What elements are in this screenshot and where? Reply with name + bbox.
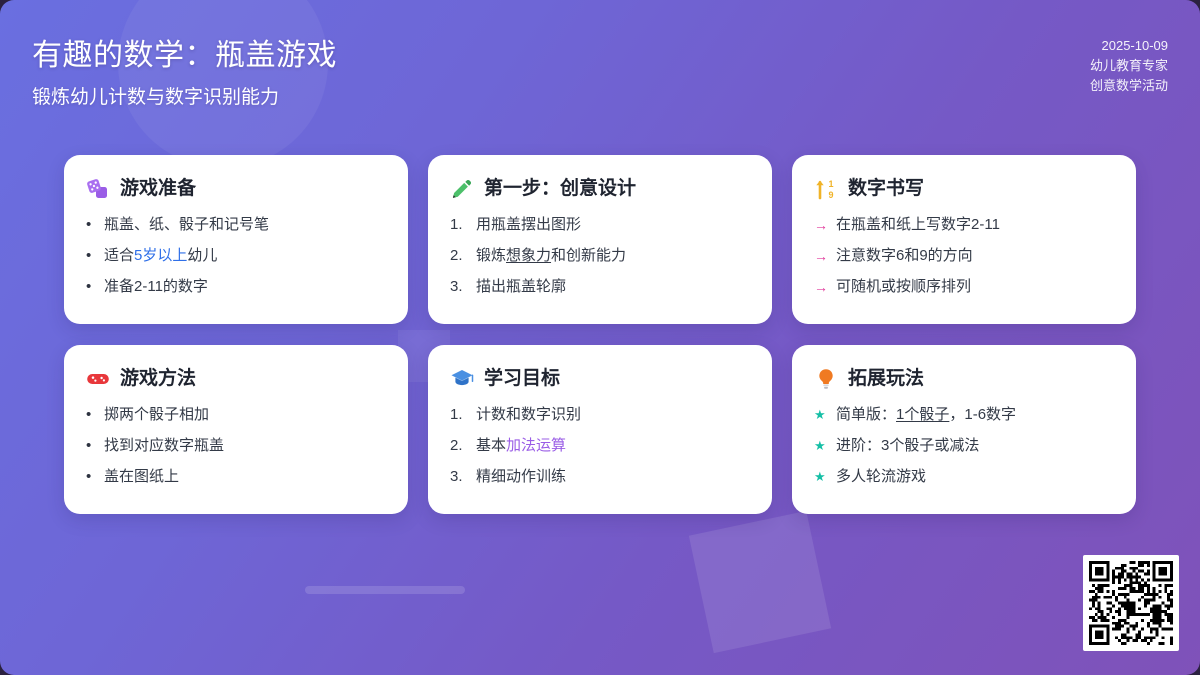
text-span: 在瓶盖和纸上写数字2-11 <box>836 216 1000 233</box>
highlight-blue: 5岁以上 <box>134 247 187 264</box>
svg-text:9: 9 <box>828 190 833 200</box>
list-marker-dot: • <box>86 436 95 456</box>
list-marker-number: 3. <box>450 467 467 487</box>
qr-code-container[interactable] <box>1083 555 1179 651</box>
list-item: 2.基本加法运算 <box>450 436 750 456</box>
list-marker-number: 2. <box>450 246 467 266</box>
meta-category: 创意数学活动 <box>1090 76 1168 96</box>
card-header: 19数字书写 <box>814 177 1114 201</box>
card-item-list: 1.计数和数字识别2.基本加法运算3.精细动作训练 <box>450 405 750 487</box>
card-title: 游戏方法 <box>120 367 196 391</box>
svg-text:1: 1 <box>828 179 833 189</box>
text-span: 用瓶盖摆出图形 <box>476 216 581 233</box>
list-marker-dot: • <box>86 405 95 425</box>
content-card: 游戏准备•瓶盖、纸、骰子和记号笔•适合5岁以上幼儿•准备2-11的数字 <box>64 155 408 324</box>
card-title: 游戏准备 <box>120 177 196 201</box>
list-item: 2.锻炼想象力和创新能力 <box>450 246 750 266</box>
list-item: •找到对应数字瓶盖 <box>86 436 386 456</box>
list-item: →注意数字6和9的方向 <box>814 246 1114 266</box>
list-marker-arrow: → <box>814 246 827 266</box>
slide-root: 有趣的数学：瓶盖游戏 锻炼幼儿计数与数字识别能力 2025-10-09 幼儿教育… <box>0 0 1200 675</box>
card-header: 游戏方法 <box>86 367 386 391</box>
list-item: •适合5岁以上幼儿 <box>86 246 386 266</box>
meta-author: 幼儿教育专家 <box>1090 56 1168 76</box>
meta-date: 2025-10-09 <box>1090 36 1168 56</box>
list-item-text: 适合5岁以上幼儿 <box>104 246 386 266</box>
highlight-underline: 想象力 <box>506 247 551 264</box>
card-header: 游戏准备 <box>86 177 386 201</box>
list-item-text: 精细动作训练 <box>476 467 750 487</box>
card-header: 第一步：创意设计 <box>450 177 750 201</box>
list-item-text: 锻炼想象力和创新能力 <box>476 246 750 266</box>
text-span: 瓶盖、纸、骰子和记号笔 <box>104 216 269 233</box>
list-item-text: 进阶：3个骰子或减法 <box>836 436 1114 456</box>
list-item: →可随机或按顺序排列 <box>814 277 1114 297</box>
page-subtitle: 锻炼幼儿计数与数字识别能力 <box>32 82 279 109</box>
list-item-text: 多人轮流游戏 <box>836 467 1114 487</box>
list-item-text: 找到对应数字瓶盖 <box>104 436 386 456</box>
text-span: 可随机或按顺序排列 <box>836 278 971 295</box>
text-span: 盖在图纸上 <box>104 468 179 485</box>
list-item: 3.精细动作训练 <box>450 467 750 487</box>
list-item-text: 简单版：1个骰子，1-6数字 <box>836 405 1114 425</box>
list-item: •盖在图纸上 <box>86 467 386 487</box>
list-item-text: 瓶盖、纸、骰子和记号笔 <box>104 215 386 235</box>
list-item-text: 基本加法运算 <box>476 436 750 456</box>
text-span: 准备2-11的数字 <box>104 278 208 295</box>
card-header: 拓展玩法 <box>814 367 1114 391</box>
list-item: •瓶盖、纸、骰子和记号笔 <box>86 215 386 235</box>
content-card: 学习目标1.计数和数字识别2.基本加法运算3.精细动作训练 <box>428 345 772 514</box>
card-item-list: ★简单版：1个骰子，1-6数字★进阶：3个骰子或减法★多人轮流游戏 <box>814 405 1114 487</box>
card-title: 数字书写 <box>848 177 924 201</box>
list-item-text: 在瓶盖和纸上写数字2-11 <box>836 215 1114 235</box>
list-marker-number: 1. <box>450 405 467 425</box>
text-span: 注意数字6和9的方向 <box>836 247 973 264</box>
list-marker-number: 2. <box>450 436 467 456</box>
list-marker-star: ★ <box>814 405 827 425</box>
text-span: 和创新能力 <box>551 247 626 264</box>
card-item-list: 1.用瓶盖摆出图形2.锻炼想象力和创新能力3.描出瓶盖轮廓 <box>450 215 750 297</box>
text-span: 锻炼 <box>476 247 506 264</box>
text-span: 简单版： <box>836 406 896 423</box>
text-span: 进阶：3个骰子或减法 <box>836 437 979 454</box>
list-item: ★进阶：3个骰子或减法 <box>814 436 1114 456</box>
card-title: 第一步：创意设计 <box>484 177 636 201</box>
card-item-list: →在瓶盖和纸上写数字2-11→注意数字6和9的方向→可随机或按顺序排列 <box>814 215 1114 297</box>
decor-rotated-square <box>689 511 831 653</box>
list-item-text: 注意数字6和9的方向 <box>836 246 1114 266</box>
graduation-cap-icon <box>450 367 474 391</box>
gamepad-icon <box>86 367 110 391</box>
list-marker-star: ★ <box>814 467 827 487</box>
text-span: 找到对应数字瓶盖 <box>104 437 224 454</box>
list-marker-star: ★ <box>814 436 827 456</box>
card-grid: 游戏准备•瓶盖、纸、骰子和记号笔•适合5岁以上幼儿•准备2-11的数字第一步：创… <box>64 155 1136 514</box>
text-span: 基本 <box>476 437 506 454</box>
card-item-list: •掷两个骰子相加•找到对应数字瓶盖•盖在图纸上 <box>86 405 386 487</box>
text-span: 幼儿 <box>187 247 217 264</box>
list-item: •掷两个骰子相加 <box>86 405 386 425</box>
content-card: 第一步：创意设计1.用瓶盖摆出图形2.锻炼想象力和创新能力3.描出瓶盖轮廓 <box>428 155 772 324</box>
list-item-text: 准备2-11的数字 <box>104 277 386 297</box>
card-title: 学习目标 <box>484 367 560 391</box>
list-marker-number: 3. <box>450 277 467 297</box>
content-card: 拓展玩法★简单版：1个骰子，1-6数字★进阶：3个骰子或减法★多人轮流游戏 <box>792 345 1136 514</box>
text-span: 适合 <box>104 247 134 264</box>
list-marker-dot: • <box>86 467 95 487</box>
list-item: 3.描出瓶盖轮廓 <box>450 277 750 297</box>
list-item-text: 计数和数字识别 <box>476 405 750 425</box>
list-item-text: 描出瓶盖轮廓 <box>476 277 750 297</box>
lightbulb-icon <box>814 367 838 391</box>
card-item-list: •瓶盖、纸、骰子和记号笔•适合5岁以上幼儿•准备2-11的数字 <box>86 215 386 297</box>
list-item-text: 盖在图纸上 <box>104 467 386 487</box>
slide-header: 有趣的数学：瓶盖游戏 锻炼幼儿计数与数字识别能力 2025-10-09 幼儿教育… <box>0 0 1200 140</box>
list-marker-dot: • <box>86 277 95 297</box>
page-title: 有趣的数学：瓶盖游戏 <box>32 30 337 74</box>
decor-bar <box>305 586 465 594</box>
list-item: ★简单版：1个骰子，1-6数字 <box>814 405 1114 425</box>
list-item-text: 掷两个骰子相加 <box>104 405 386 425</box>
highlight-purple: 加法运算 <box>506 437 566 454</box>
text-span: ，1-6数字 <box>949 406 1016 423</box>
list-marker-dot: • <box>86 215 95 235</box>
list-item: 1.用瓶盖摆出图形 <box>450 215 750 235</box>
list-marker-arrow: → <box>814 215 827 235</box>
qr-code <box>1089 561 1173 645</box>
text-span: 精细动作训练 <box>476 468 566 485</box>
text-span: 描出瓶盖轮廓 <box>476 278 566 295</box>
text-span: 多人轮流游戏 <box>836 468 926 485</box>
card-title: 拓展玩法 <box>848 367 924 391</box>
list-item: 1.计数和数字识别 <box>450 405 750 425</box>
list-item-text: 可随机或按顺序排列 <box>836 277 1114 297</box>
header-meta: 2025-10-09 幼儿教育专家 创意数学活动 <box>1090 36 1168 96</box>
sort-numeric-up-icon: 19 <box>814 177 838 201</box>
card-header: 学习目标 <box>450 367 750 391</box>
list-marker-arrow: → <box>814 277 827 297</box>
list-item: •准备2-11的数字 <box>86 277 386 297</box>
list-marker-dot: • <box>86 246 95 266</box>
dice-icon <box>86 177 110 201</box>
list-item: ★多人轮流游戏 <box>814 467 1114 487</box>
list-item-text: 用瓶盖摆出图形 <box>476 215 750 235</box>
text-span: 计数和数字识别 <box>476 406 581 423</box>
content-card: 19数字书写→在瓶盖和纸上写数字2-11→注意数字6和9的方向→可随机或按顺序排… <box>792 155 1136 324</box>
pencil-icon <box>450 177 474 201</box>
content-card: 游戏方法•掷两个骰子相加•找到对应数字瓶盖•盖在图纸上 <box>64 345 408 514</box>
highlight-underline: 1个骰子 <box>896 406 949 423</box>
list-marker-number: 1. <box>450 215 467 235</box>
text-span: 掷两个骰子相加 <box>104 406 209 423</box>
list-item: →在瓶盖和纸上写数字2-11 <box>814 215 1114 235</box>
